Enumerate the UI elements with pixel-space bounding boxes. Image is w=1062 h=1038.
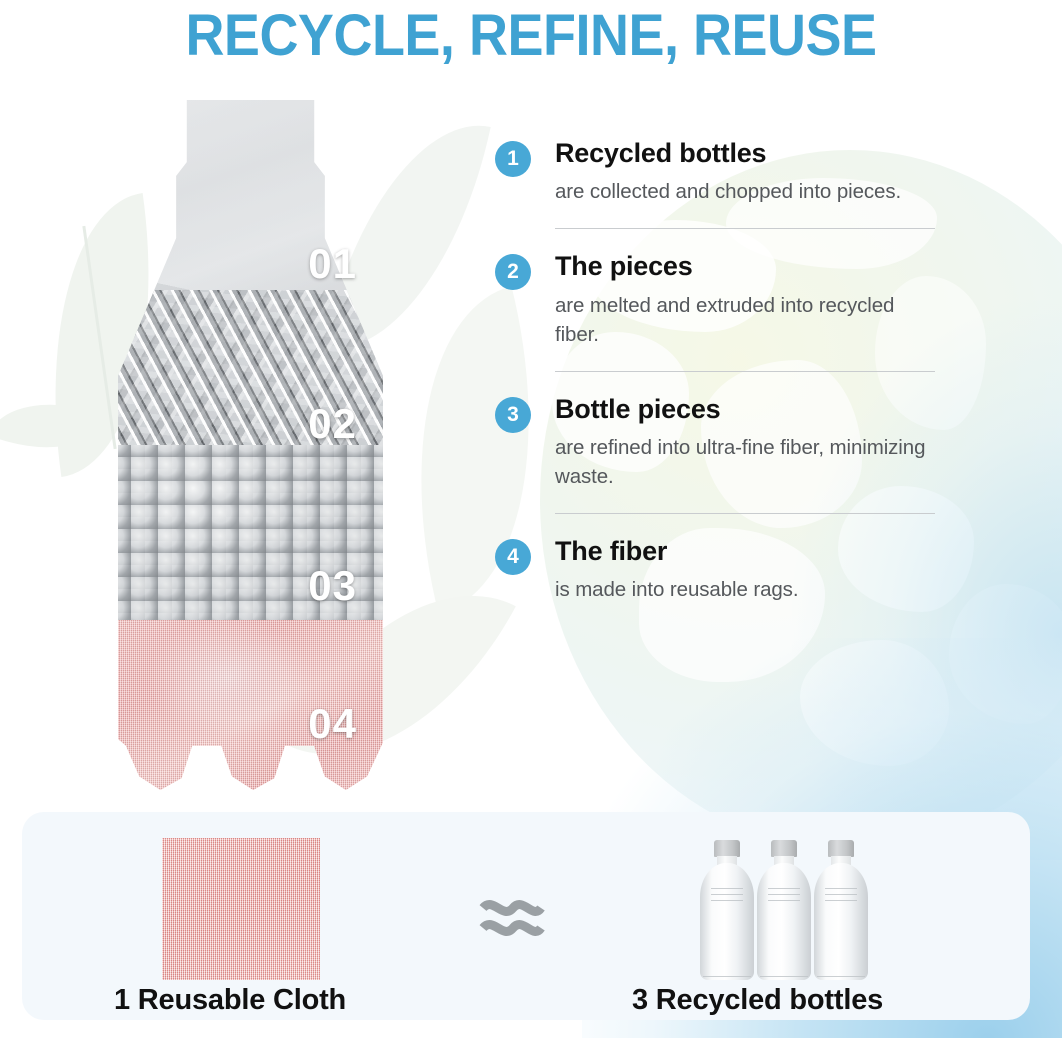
plastic-bottle-icon [757, 840, 811, 980]
step-item-3: 3 Bottle pieces are refined into ultra-f… [495, 394, 935, 491]
equivalence-left-label: 1 Reusable Cloth [114, 984, 346, 1017]
step-title-4: The fiber [555, 536, 798, 566]
bottle-diagram: 01 02 03 04 [118, 100, 383, 790]
step-divider-3 [555, 513, 935, 514]
steps-list: 1 Recycled bottles are collected and cho… [495, 138, 935, 605]
step-title-1: Recycled bottles [555, 138, 901, 168]
segment-number-02: 02 [308, 400, 357, 448]
step-header: 3 Bottle pieces are refined into ultra-f… [495, 394, 935, 491]
segment-number-04: 04 [308, 700, 357, 748]
step-title-2: The pieces [555, 251, 935, 281]
equivalence-card: 1 Reusable Cloth 3 Recycled bottles [22, 812, 1030, 1020]
infographic-page: RECYCLE, REFINE, REUSE 01 02 03 04 1 Rec… [0, 0, 1062, 1038]
step-header: 2 The pieces are melted and extruded int… [495, 251, 935, 348]
segment-number-01: 01 [308, 240, 357, 288]
step-description-2: are melted and extruded into recycled fi… [555, 291, 935, 349]
step-badge-2: 2 [495, 254, 531, 290]
step-item-4: 4 The fiber is made into reusable rags. [495, 536, 935, 604]
step-header: 1 Recycled bottles are collected and cho… [495, 138, 935, 206]
step-badge-1: 1 [495, 141, 531, 177]
step-body: The pieces are melted and extruded into … [555, 251, 935, 348]
step-description-3: are refined into ultra-fine fiber, minim… [555, 433, 935, 491]
step-item-2: 2 The pieces are melted and extruded int… [495, 251, 935, 348]
step-body: The fiber is made into reusable rags. [555, 536, 798, 604]
leaf-vein [82, 226, 116, 449]
page-title: RECYCLE, REFINE, REUSE [37, 2, 1025, 69]
leaf-watermark-small [0, 378, 109, 475]
step-body: Recycled bottles are collected and chopp… [555, 138, 901, 206]
step-header: 4 The fiber is made into reusable rags. [495, 536, 935, 604]
step-item-1: 1 Recycled bottles are collected and cho… [495, 138, 935, 206]
step-description-1: are collected and chopped into pieces. [555, 177, 901, 206]
plastic-bottle-icon [700, 840, 754, 980]
equivalence-right-label: 3 Recycled bottles [632, 984, 883, 1017]
step-divider-2 [555, 371, 935, 372]
step-divider-1 [555, 228, 935, 229]
plastic-bottle-group [700, 828, 876, 980]
step-badge-3: 3 [495, 397, 531, 433]
plastic-bottle-icon [814, 840, 868, 980]
cloth-swatch-icon [162, 838, 320, 980]
step-description-4: is made into reusable rags. [555, 575, 798, 604]
segment-number-03: 03 [308, 562, 357, 610]
step-body: Bottle pieces are refined into ultra-fin… [555, 394, 935, 491]
step-title-3: Bottle pieces [555, 394, 935, 424]
approximately-equal-icon [477, 890, 547, 942]
step-badge-4: 4 [495, 539, 531, 575]
